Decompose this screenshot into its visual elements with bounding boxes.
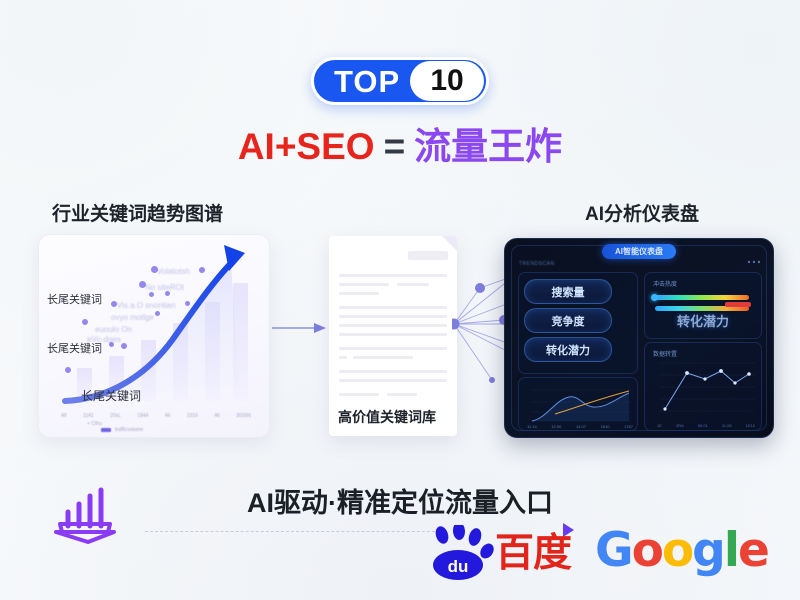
axis-tick: 06.01: [698, 423, 708, 428]
google-letter: o: [662, 523, 692, 578]
keyword-trend-card: 长尾关键词 长尾关键词 长尾关键词 Volatotsh No siteROI V…: [38, 234, 270, 438]
top-badge-number: 10: [410, 61, 484, 101]
metric-button-search-volume[interactable]: 搜索量: [524, 279, 612, 304]
axis-tick: 1610: [601, 424, 610, 429]
axis-tick: 49: [61, 413, 67, 419]
axis-tick: 11.14: [527, 424, 537, 429]
axis-tick: 11.08: [722, 423, 732, 428]
baidu-wordmark: 百度: [495, 534, 571, 573]
chart-x-axis: 49 1141 20sL 1844 46 1016 46 3026N: [61, 413, 251, 419]
caption-keyword-trend: 行业关键词趋势图谱: [52, 199, 223, 226]
blurred-keyword: Volatotsh: [157, 267, 190, 276]
top-rank-badge: TOP 10: [311, 57, 489, 105]
flow-arrow-icon: [272, 322, 328, 334]
axis-tick: 14.07: [576, 424, 586, 429]
more-dots-icon[interactable]: [747, 259, 761, 265]
axis-tick: 1E10: [746, 423, 755, 428]
metric-button-competition[interactable]: 竞争度: [524, 308, 612, 333]
legend-label: trafficvolume: [115, 427, 143, 433]
chart-legend: trafficvolume: [101, 427, 143, 433]
footer-dashed-line: [145, 531, 445, 532]
axis-tick: 20sL: [110, 413, 121, 419]
gauge-panel-title: 冲击热度: [653, 279, 677, 288]
keyword-library-document: 高价值关键词库: [329, 236, 457, 436]
gauge-overlay-text: 转化潜力: [645, 311, 761, 330]
axis-tick: 1E: [657, 423, 662, 428]
line-chart-panel: 数据转置 1E 2RA 06.01 11.08 1E10: [644, 342, 762, 431]
google-letter: e: [738, 523, 768, 578]
page-fold-icon: [442, 236, 457, 251]
caption-ai-dashboard: AI分析仪表盘: [585, 199, 699, 226]
google-letter: l: [724, 523, 738, 578]
title-equals: =: [384, 126, 406, 167]
baidu-du-text: du: [448, 557, 469, 576]
axis-tick: 1016: [187, 413, 198, 419]
title-part-traffic: 流量王炸: [414, 126, 562, 167]
baidu-paw-icon: du: [426, 525, 498, 581]
google-letter: G: [595, 523, 632, 578]
dashboard-title-pill: AI智能仪表盘: [602, 244, 676, 259]
title-part-aiseo: AI+SEO: [238, 126, 375, 167]
blurred-keyword: eVc-dges: [87, 335, 121, 344]
axis-tick: 1141: [83, 413, 94, 419]
chart-x-label: + Cthu: [87, 421, 102, 427]
metric-button-conversion[interactable]: 转化潜力: [524, 337, 612, 362]
page-title: AI+SEO=流量王炸: [0, 128, 800, 165]
heat-gradient-bar: [655, 295, 749, 300]
bar-chart-pedestal-icon: [48, 482, 128, 544]
legend-swatch: [101, 428, 111, 432]
axis-tick: 12.00: [551, 424, 561, 429]
keyword-label: 长尾关键词: [81, 387, 141, 404]
search-engine-logos: du 百度 Google: [420, 521, 750, 583]
area-chart-panel: 11.14 12.00 14.07 1610 1787: [518, 377, 638, 431]
alert-tag: [725, 302, 751, 307]
doc-header-block: [408, 251, 448, 260]
blurred-keyword: euoulo On: [95, 325, 132, 334]
top-badge-word: TOP: [334, 66, 400, 97]
blurred-keyword: ovyo motlge: [111, 313, 154, 322]
google-wordmark: Google: [595, 527, 768, 574]
blurred-keyword: Vis.a.O snontian: [117, 301, 176, 310]
poster-canvas: TOP 10 AI+SEO=流量王炸 行业关键词趋势图谱 AI分析仪表盘: [0, 0, 800, 600]
dashboard-brand: TRENDSCAN: [519, 261, 555, 267]
blurred-keyword: No siteROI: [145, 283, 184, 292]
axis-tick: 1787: [624, 424, 633, 429]
ai-dashboard: AI智能仪表盘 TRENDSCAN 搜索量 竞争度 转化潜力 11.14 12.…: [504, 238, 774, 438]
keyword-label: 长尾关键词: [47, 291, 102, 307]
gauge-panel: 冲击热度 转化潜力: [644, 272, 762, 339]
axis-tick: 1844: [137, 413, 148, 419]
axis-tick: 46: [165, 413, 171, 419]
axis-tick: 2RA: [676, 423, 684, 428]
line-chart: [645, 343, 761, 430]
axis-tick: 46: [214, 413, 220, 419]
document-label: 高价值关键词库: [338, 407, 436, 427]
area-chart: [519, 378, 637, 430]
axis-tick: 3026N: [236, 413, 251, 419]
google-letter: g: [692, 523, 724, 578]
google-letter: o: [632, 523, 662, 578]
